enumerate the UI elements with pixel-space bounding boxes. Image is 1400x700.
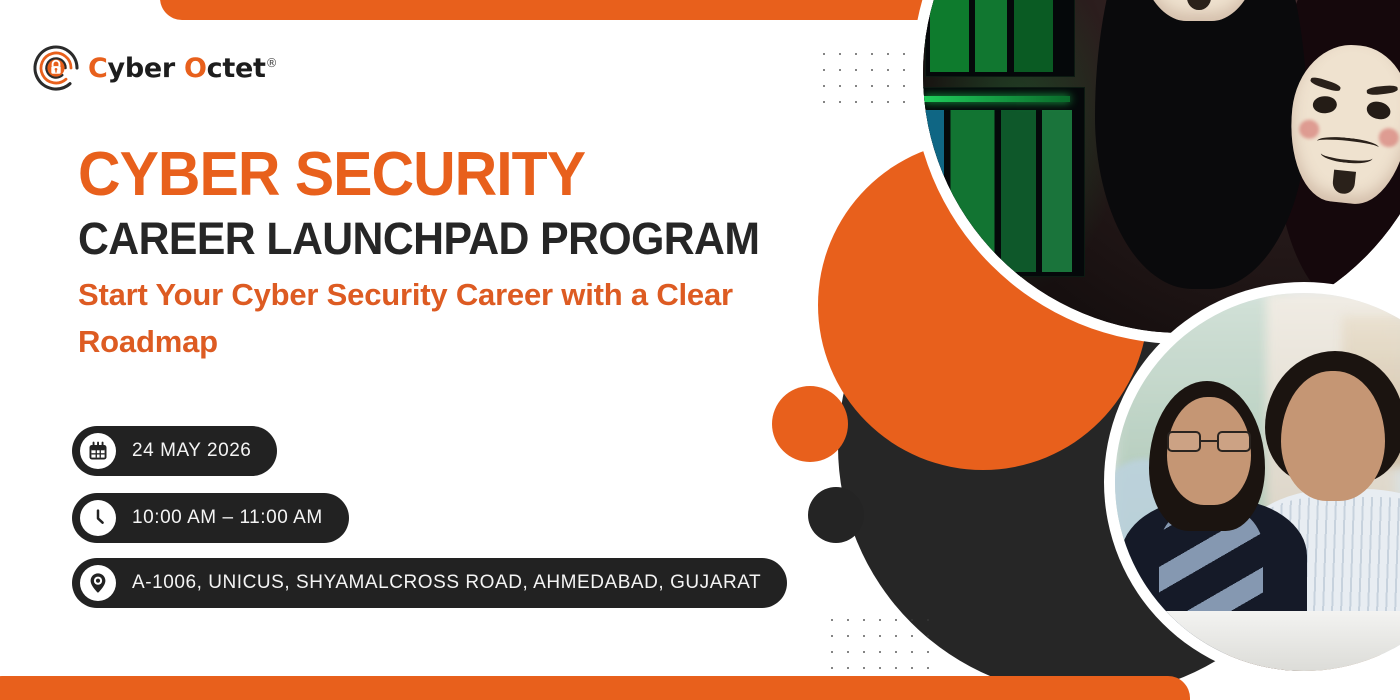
eyeglasses-icon [1167, 431, 1251, 453]
brand-name-o: O [184, 53, 207, 84]
brand-name-ctet: ctet [207, 53, 266, 84]
subheadline: CAREER LAUNCHPAD PROGRAM [78, 215, 759, 262]
content-column: Cyber Octet® CYBER SECURITY CAREER LAUNC… [0, 0, 880, 700]
calendar-icon [80, 433, 116, 469]
brand-name: Cyber Octet® [88, 53, 277, 84]
tagline: Start Your Cyber Security Career with a … [78, 272, 778, 365]
clock-icon [80, 500, 116, 536]
event-date-pill: 24 MAY 2026 [72, 426, 277, 476]
event-time-label: 10:00 AM – 11:00 AM [132, 507, 323, 529]
location-pin-icon [80, 565, 116, 601]
brand-logo[interactable]: Cyber Octet® [30, 42, 277, 94]
students-photo-circle [1104, 282, 1400, 682]
registered-trademark-symbol: ® [266, 56, 278, 70]
event-location-pill: A-1006, UNICUS, SHYAMALCROSS ROAD, AHMED… [72, 558, 787, 608]
event-location-label: A-1006, UNICUS, SHYAMALCROSS ROAD, AHMED… [132, 572, 761, 594]
headline: CYBER SECURITY [78, 143, 585, 206]
brand-name-c: C [88, 53, 108, 84]
event-time-pill: 10:00 AM – 11:00 AM [72, 493, 349, 543]
promotional-banner: Cyber Octet® CYBER SECURITY CAREER LAUNC… [0, 0, 1400, 700]
lock-shield-icon [30, 42, 82, 94]
brand-name-yber: yber [108, 53, 184, 84]
event-date-label: 24 MAY 2026 [132, 440, 251, 462]
